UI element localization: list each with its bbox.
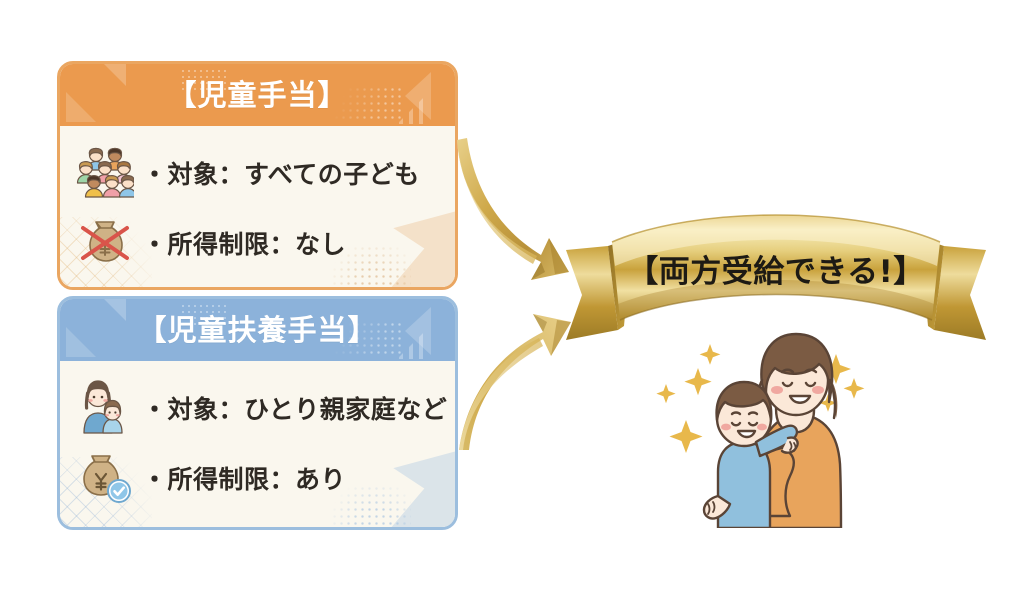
triangle-decoration-icon [405,307,431,355]
card-header-child-allowance: 【児童手当】 [60,64,455,126]
card-body-child-allowance: ・対象：すべての子ども ・所得制限：なし [60,126,455,287]
list-item: ・所得制限：なし [68,208,455,278]
card-title: 【児童手当】 [167,81,347,110]
triangle-decoration-icon [66,92,96,122]
card-header-child-rearing-allowance: 【児童扶養手当】 [60,299,455,361]
list-item: ・対象：ひとり親家庭など [68,373,455,443]
list-item-label: ・所得制限：なし [142,225,346,261]
ribbon-label: 【両方受給できる!】 [566,246,986,291]
card-child-rearing-allowance: 【児童扶養手当】 [57,296,458,530]
card-rows: ・対象：ひとり親家庭など ・所得制限：あり [60,361,455,513]
stripe-decoration-icon [397,299,449,359]
list-item: ・所得制限：あり [68,443,455,513]
card-title: 【児童扶養手当】 [137,316,377,345]
card-child-allowance: 【児童手当】 [57,61,458,290]
triangle-decoration-icon [100,64,126,86]
list-item: ・対象：すべての子ども [68,138,455,208]
money-bag-checked-icon [68,451,142,505]
mother-hugging-child-illustration [648,328,888,528]
single-parent-and-child-icon [68,379,142,437]
card-body-child-rearing-allowance: ・対象：ひとり親家庭など ・所得制限：あり [60,361,455,527]
triangle-decoration-icon [405,72,431,120]
group-of-children-icon [68,146,142,200]
triangle-decoration-icon [66,327,96,357]
infographic-canvas: 【児童手当】 [0,0,1024,590]
list-item-label: ・対象：ひとり親家庭など [142,390,447,426]
list-item-label: ・対象：すべての子ども [142,155,420,191]
list-item-label: ・所得制限：あり [142,460,346,496]
triangle-decoration-icon [100,299,126,321]
money-bag-crossed-out-icon [68,216,142,270]
stripe-decoration-icon [397,64,449,124]
card-rows: ・対象：すべての子ども ・所得制限：なし [60,126,455,278]
